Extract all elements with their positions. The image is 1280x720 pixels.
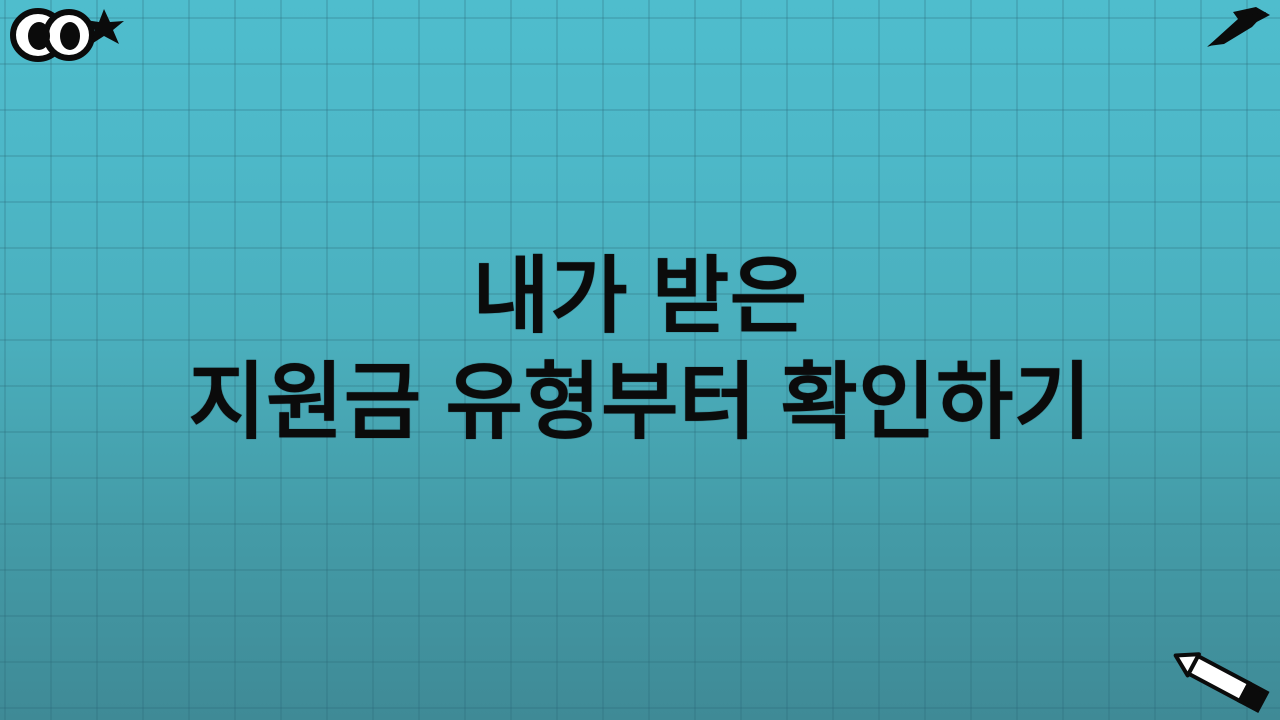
slide-canvas: 내가 받은 지원금 유형부터 확인하기: [0, 0, 1280, 720]
star-icon: [82, 6, 126, 50]
headline-line-1: 내가 받은: [0, 243, 1280, 349]
pencil-icon: [1160, 638, 1276, 718]
page-title: 내가 받은 지원금 유형부터 확인하기: [0, 243, 1280, 455]
headline-line-2: 지원금 유형부터 확인하기: [0, 349, 1280, 455]
arrow-cursor-icon: [1204, 2, 1274, 54]
